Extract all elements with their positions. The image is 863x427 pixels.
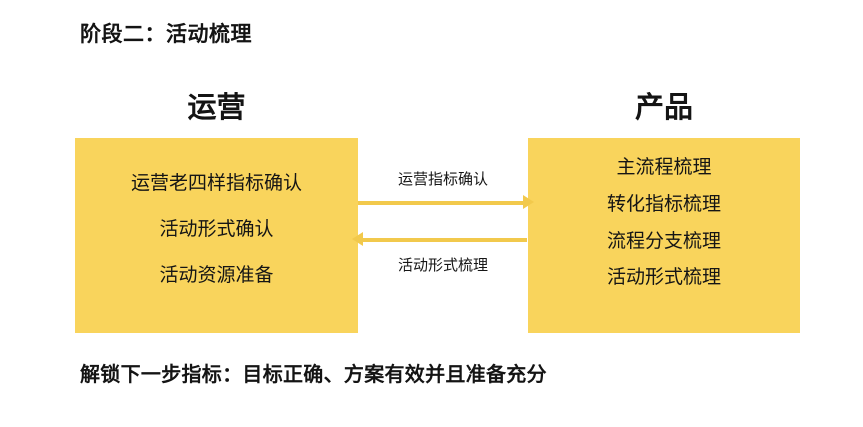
page-title: 阶段二：活动梳理 — [80, 18, 252, 48]
list-item: 活动形式梳理 — [607, 266, 721, 290]
list-item: 活动形式确认 — [159, 218, 273, 242]
connector-group: 运营指标确认 活动形式梳理 — [355, 150, 531, 280]
column-header-operations: 运营 — [75, 84, 358, 126]
connector-label-backward: 活动形式梳理 — [355, 254, 531, 275]
arrow-left-icon — [352, 232, 363, 246]
connector-label-forward: 运营指标确认 — [355, 168, 531, 189]
arrow-left-line — [358, 238, 527, 242]
arrow-right-icon — [523, 195, 534, 209]
arrow-right-line — [358, 201, 527, 205]
list-item: 流程分支梳理 — [607, 230, 721, 254]
slide-footer-text: 解锁下一步指标：目标正确、方案有效并且准备充分 — [80, 358, 547, 387]
product-panel: 主流程梳理 转化指标梳理 流程分支梳理 活动形式梳理 — [528, 138, 800, 333]
operations-panel: 运营老四样指标确认 活动形式确认 活动资源准备 — [75, 138, 358, 333]
list-item: 转化指标梳理 — [607, 193, 721, 217]
list-item: 运营老四样指标确认 — [131, 172, 302, 196]
product-item-list: 主流程梳理 转化指标梳理 流程分支梳理 活动形式梳理 — [528, 156, 800, 290]
slide-canvas: 阶段二：活动梳理 运营 产品 运营老四样指标确认 活动形式确认 活动资源准备 主… — [0, 0, 863, 427]
operations-item-list: 运营老四样指标确认 活动形式确认 活动资源准备 — [75, 172, 358, 287]
column-header-product: 产品 — [528, 84, 800, 126]
list-item: 主流程梳理 — [616, 156, 711, 180]
list-item: 活动资源准备 — [159, 264, 273, 288]
